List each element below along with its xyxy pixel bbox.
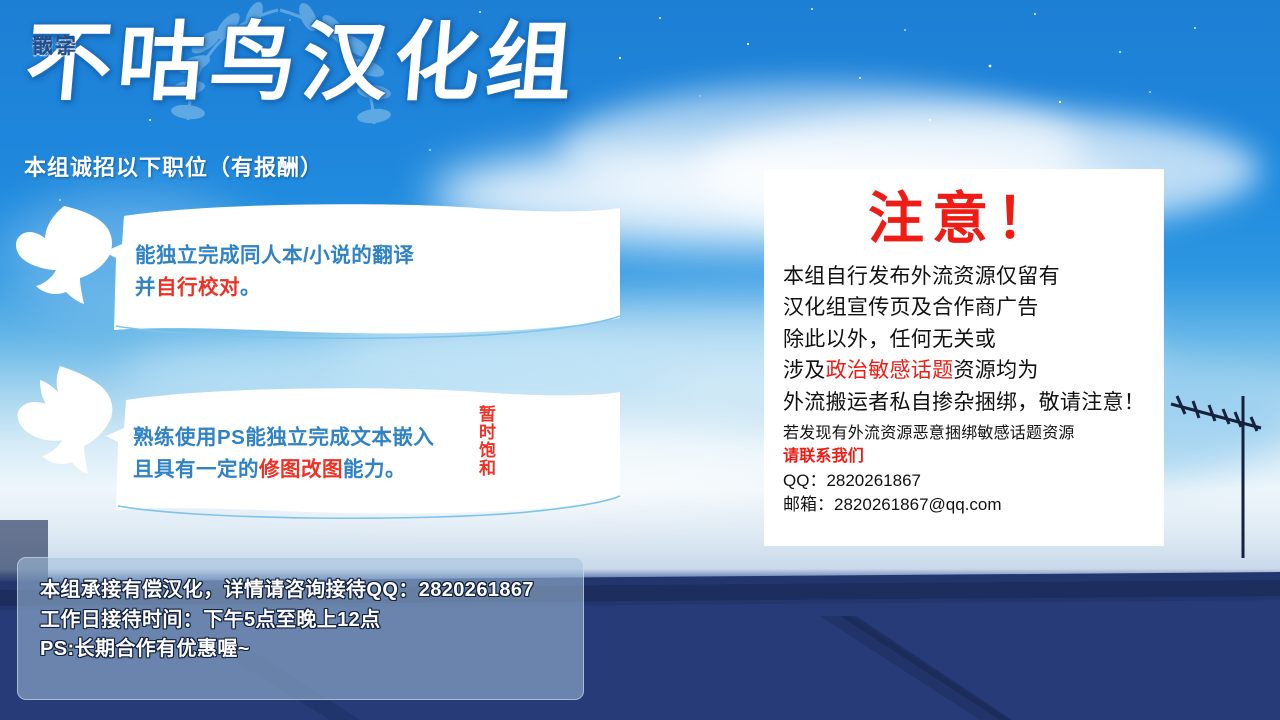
contact-email[interactable]: 邮箱：2820261867@qq.com: [783, 493, 1145, 518]
notice-title: 注意！: [783, 188, 1145, 251]
contact-qq[interactable]: QQ：2820261867: [783, 469, 1145, 494]
notice-body: 本组自行发布外流资源仅留有 汉化组宣传页及合作商广告 除此以外，任何无关或 涉及…: [783, 261, 1145, 419]
poster-canvas: 不咕鸟汉化组 本组诚招以下职位（有报酬） 翻译 能独立完成同人本/小说的翻译 并…: [0, 0, 1280, 720]
role-description-line1: 熟练使用PS能独立完成文本嵌入: [133, 422, 434, 454]
dove-icon: [12, 200, 116, 312]
poster-subtitle: 本组诚招以下职位（有报酬）: [24, 150, 323, 182]
notice-line: 外流搬运者私自掺杂捆绑，敬请注意！: [783, 387, 1145, 419]
dove-icon: [14, 362, 118, 474]
role-description: 能独立完成同人本/小说的翻译 并自行校对。: [135, 240, 414, 304]
commission-line-3: PS:长期合作有优惠喔~: [40, 635, 561, 665]
notice-small-block: 若发现有外流资源恶意捆绑敏感话题资源 请联系我们 QQ：2820261867 邮…: [783, 423, 1145, 518]
tv-antenna-icon: [1165, 390, 1275, 560]
role-description-line1: 能独立完成同人本/小说的翻译: [135, 240, 414, 272]
commission-info-panel: 本组承接有偿汉化，详情请咨询接待QQ：2820261867 工作日接待时间：下午…: [17, 557, 584, 700]
notice-line: 汉化组宣传页及合作商广告: [783, 292, 1145, 324]
notice-line: 本组自行发布外流资源仅留有: [783, 261, 1145, 293]
role-description: 熟练使用PS能独立完成文本嵌入 且具有一定的修图改图能力。: [133, 422, 434, 486]
poster-title: 不咕鸟汉化组: [26, 18, 756, 138]
commission-line-2: 工作日接待时间：下午5点至晚上12点: [40, 606, 561, 636]
poster-title-text: 不咕鸟汉化组: [22, 18, 760, 108]
commission-line-1: 本组承接有偿汉化，详情请咨询接待QQ：2820261867: [40, 576, 561, 606]
notice-small-line: 若发现有外流资源恶意捆绑敏感话题资源: [783, 423, 1145, 446]
role-status-note: 暂时饱和: [473, 405, 495, 477]
contact-cta[interactable]: 请联系我们: [783, 446, 1145, 469]
notice-panel: 注意！ 本组自行发布外流资源仅留有 汉化组宣传页及合作商广告 除此以外，任何无关…: [765, 170, 1163, 545]
notice-line: 涉及政治敏感话题资源均为: [783, 355, 1145, 387]
notice-line: 除此以外，任何无关或: [783, 324, 1145, 356]
role-description-line2: 并自行校对。: [135, 272, 414, 304]
role-description-line2: 且具有一定的修图改图能力。: [133, 454, 434, 486]
